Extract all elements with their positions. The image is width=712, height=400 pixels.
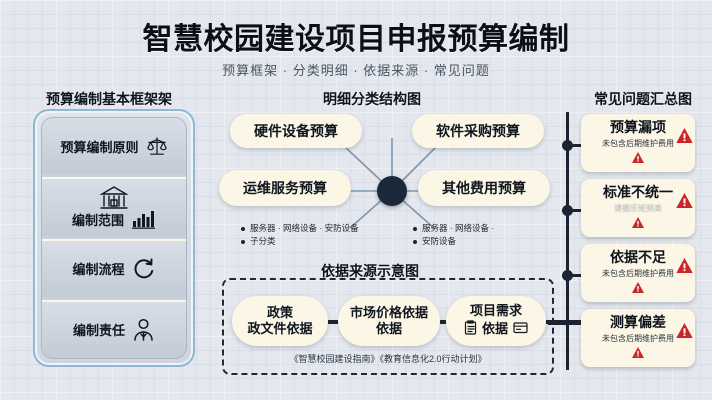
list-item: 子分类 — [240, 235, 359, 248]
framework-item-label: 编制流程 — [72, 259, 124, 278]
classification-node-software[interactable]: 软件采购预算 — [412, 114, 544, 148]
source-line1: 项目需求 — [470, 303, 522, 319]
issue-title: 标准不统一 — [603, 185, 673, 200]
bank-icon — [99, 185, 129, 211]
issue-title: 依据不足 — [610, 250, 666, 265]
bar-chart-icon — [132, 209, 156, 229]
classification-hub-diagram: 硬件设备预算 软件采购预算 运维服务预算 其他费用预算 — [222, 108, 552, 228]
rail-arm — [569, 144, 581, 147]
scales-icon — [146, 136, 168, 156]
infographic-canvas: 智慧校园建设项目申报预算编制 预算框架 · 分类明细 · 依据来源 · 常见问题… — [0, 0, 712, 400]
framework-item-label: 预算编制原则 — [60, 137, 138, 156]
node-label: 其他费用预算 — [442, 178, 526, 198]
framework-card-stack: 预算编制原则 编制范围 — [41, 117, 187, 359]
classification-node-maintenance[interactable]: 运维服务预算 — [219, 170, 351, 206]
classification-bullets-left: 服务器 · 网络设备 · 安防设备 子分类 — [240, 222, 359, 248]
framework-item-principles[interactable]: 预算编制原则 — [42, 118, 186, 174]
framework-item-label: 编制范围 — [72, 210, 124, 229]
card-icon — [513, 321, 528, 338]
source-line2: 依据 — [376, 321, 402, 337]
classification-node-hardware[interactable]: 硬件设备预算 — [230, 114, 362, 148]
classification-heading: 明细分类结构图 — [323, 89, 421, 109]
list-item: 服务器 · 网络设备 · 安防设备 — [240, 222, 359, 235]
issue-subtitle: 未包含后期维护费用 — [602, 268, 674, 279]
warning-icon — [632, 215, 644, 233]
source-node-market-price[interactable]: 市场价格依据 依据 — [338, 296, 440, 346]
source-line2: 政文件依据 — [247, 321, 312, 337]
node-label: 硬件设备预算 — [254, 121, 338, 141]
framework-item-label: 编制责任 — [73, 320, 125, 339]
framework-item-process[interactable]: 编制流程 — [42, 239, 186, 297]
framework-item-responsibility[interactable]: 编制责任 — [42, 300, 186, 358]
issue-card-inconsistent-standard[interactable]: 标准不统一 请据乐矩预类 — [581, 179, 695, 237]
classification-node-other[interactable]: 其他费用预算 — [418, 170, 550, 206]
issue-card-missing-items[interactable]: 预算漏项 未包含后期维护费用 — [581, 114, 695, 172]
list-item: 服务器 · 网络设备 · — [412, 222, 494, 235]
issue-title: 测算偏差 — [610, 315, 666, 330]
source-line1: 政策 — [267, 305, 293, 321]
warning-icon — [676, 258, 693, 278]
framework-item-scope[interactable]: 编制范围 — [42, 177, 186, 235]
source-node-policy[interactable]: 政策 政文件依据 — [232, 296, 328, 346]
list-item: 安防设备 — [412, 235, 494, 248]
page-title: 智慧校园建设项目申报预算编制 — [0, 14, 712, 58]
source-node-project-demand[interactable]: 项目需求 依据 — [446, 296, 546, 346]
rail-arm — [548, 322, 582, 325]
warning-icon — [632, 150, 644, 168]
node-label: 软件采购预算 — [436, 121, 520, 141]
framework-heading: 预算编制基本框架架 — [46, 89, 172, 109]
warning-icon — [676, 193, 693, 213]
classification-bullets-right: 服务器 · 网络设备 · 安防设备 — [412, 222, 494, 248]
issue-subtitle: 请据乐矩预类 — [614, 203, 662, 214]
warning-icon — [676, 128, 693, 148]
warning-icon — [632, 345, 644, 363]
warning-icon — [632, 280, 644, 298]
hub-center-node — [377, 176, 407, 206]
issue-card-insufficient-basis[interactable]: 依据不足 未包含后期维护费用 — [581, 244, 695, 302]
source-line1: 市场价格依据 — [350, 305, 428, 321]
issue-title: 预算漏项 — [610, 120, 666, 135]
document-icon — [464, 320, 477, 339]
rail-arm — [569, 274, 581, 277]
issues-heading: 常见问题汇总图 — [594, 89, 692, 109]
issue-subtitle: 未包含后期维护费用 — [602, 333, 674, 344]
issue-card-estimation-deviation[interactable]: 测算偏差 未包含后期维护费用 — [581, 309, 695, 367]
warning-icon — [676, 323, 693, 343]
issue-subtitle: 未包含后期维护费用 — [602, 138, 674, 149]
rail-arm — [569, 209, 581, 212]
source-line2: 依据 — [482, 321, 508, 337]
sources-citation: 《智慧校园建设指南》《教育信息化2.0行动计划》 — [222, 352, 554, 365]
node-label: 运维服务预算 — [243, 178, 327, 198]
person-icon — [132, 318, 155, 342]
refresh-cycle-icon — [132, 257, 156, 281]
page-subtitle: 预算框架 · 分类明细 · 依据来源 · 常见问题 — [0, 60, 712, 79]
